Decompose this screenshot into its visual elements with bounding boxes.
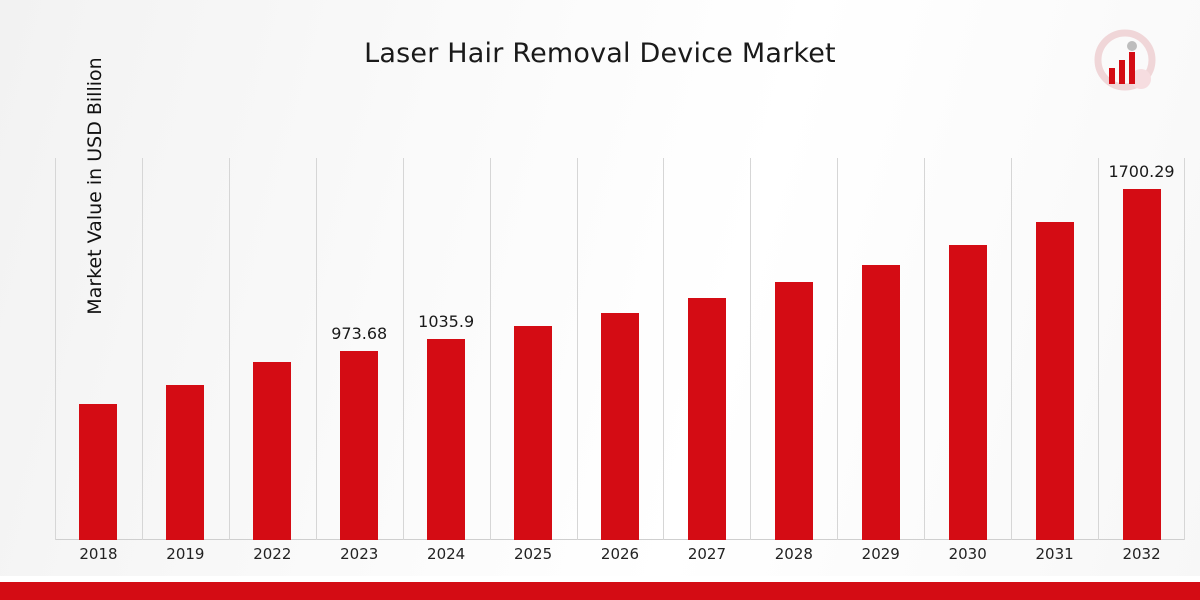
bar-value-label-2032: 1700.29 [1082, 162, 1200, 181]
bar-2019 [166, 385, 204, 540]
bar-2026 [601, 313, 639, 540]
gridline [229, 158, 230, 540]
bar-2028 [775, 282, 813, 540]
gridline [577, 158, 578, 540]
bar-2023 [340, 351, 378, 540]
x-tick-2026: 2026 [580, 545, 660, 563]
gridline [142, 158, 143, 540]
footer-accent-bar [0, 582, 1200, 600]
x-axis-ticks: 2018201920222023202420252026202720282029… [55, 545, 1185, 567]
gridline [316, 158, 317, 540]
bar-2031 [1036, 222, 1074, 540]
x-tick-2022: 2022 [232, 545, 312, 563]
gridline [750, 158, 751, 540]
x-tick-2027: 2027 [667, 545, 747, 563]
chart-page: Laser Hair Removal Device Market Market … [0, 0, 1200, 600]
x-tick-2018: 2018 [58, 545, 138, 563]
gridline-edge-0 [55, 158, 56, 540]
bar-value-label-2024: 1035.9 [386, 312, 506, 331]
gridline-edge-1 [1184, 158, 1185, 540]
x-tick-2029: 2029 [841, 545, 921, 563]
x-tick-2023: 2023 [319, 545, 399, 563]
bar-2024 [427, 339, 465, 540]
gridline [663, 158, 664, 540]
gridline [1011, 158, 1012, 540]
gridline [490, 158, 491, 540]
bar-2022 [253, 362, 291, 540]
x-tick-2019: 2019 [145, 545, 225, 563]
plot-area: 973.681035.91700.29 [55, 158, 1185, 540]
market-research-logo-icon [1082, 22, 1168, 108]
gridline [1098, 158, 1099, 540]
x-tick-2028: 2028 [754, 545, 834, 563]
bar-2029 [862, 265, 900, 540]
gridline [924, 158, 925, 540]
x-tick-2024: 2024 [406, 545, 486, 563]
bar-2032 [1123, 189, 1161, 540]
gridline [837, 158, 838, 540]
bar-2027 [688, 298, 726, 540]
bar-2025 [514, 326, 552, 540]
bar-2030 [949, 245, 987, 540]
gridline [403, 158, 404, 540]
x-tick-2032: 2032 [1102, 545, 1182, 563]
page-title: Laser Hair Removal Device Market [0, 38, 1200, 69]
x-tick-2030: 2030 [928, 545, 1008, 563]
x-tick-2031: 2031 [1015, 545, 1095, 563]
bar-2018 [79, 404, 117, 540]
x-tick-2025: 2025 [493, 545, 573, 563]
